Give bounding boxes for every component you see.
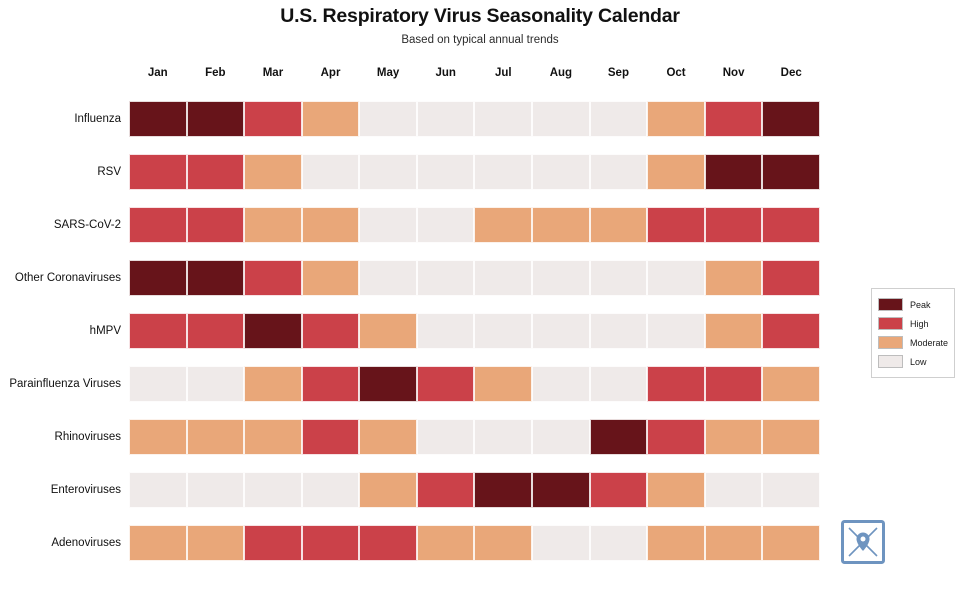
heatmap-cell[interactable] [590, 154, 648, 190]
heatmap-cell[interactable] [474, 313, 532, 349]
heatmap-cell[interactable] [129, 313, 187, 349]
heatmap-cell[interactable] [417, 525, 475, 561]
legend-item: High [878, 314, 949, 333]
heatmap-cell[interactable] [532, 313, 590, 349]
heatmap-cell[interactable] [532, 260, 590, 296]
heatmap-cell[interactable] [590, 260, 648, 296]
heatmap-cell[interactable] [302, 313, 360, 349]
heatmap-cell[interactable] [762, 313, 820, 349]
heatmap-cell[interactable] [359, 154, 417, 190]
page-title: U.S. Respiratory Virus Seasonality Calen… [0, 0, 960, 28]
heatmap-cell[interactable] [244, 472, 302, 508]
heatmap-cell[interactable] [417, 207, 475, 243]
heatmap-cell[interactable] [244, 366, 302, 402]
map-pin-icon[interactable] [838, 517, 888, 567]
heatmap-cell[interactable] [590, 525, 648, 561]
month-label-apr: Apr [302, 62, 360, 84]
title-block: U.S. Respiratory Virus Seasonality Calen… [0, 0, 960, 46]
heatmap-cell[interactable] [762, 207, 820, 243]
heatmap-cell[interactable] [647, 525, 705, 561]
heatmap-cell[interactable] [129, 101, 187, 137]
heatmap-cell[interactable] [590, 313, 648, 349]
heatmap-cell[interactable] [474, 154, 532, 190]
heatmap-cell[interactable] [474, 472, 532, 508]
row-label: Influenza [0, 101, 121, 137]
heatmap-cell[interactable] [129, 366, 187, 402]
heatmap-cell[interactable] [590, 101, 648, 137]
month-label-dec: Dec [762, 62, 820, 84]
heatmap-cell[interactable] [762, 472, 820, 508]
heatmap-cell[interactable] [244, 101, 302, 137]
heatmap-row [129, 207, 820, 243]
month-label-oct: Oct [647, 62, 705, 84]
heatmap-cell[interactable] [129, 154, 187, 190]
row-label: RSV [0, 154, 121, 190]
row-label: SARS-CoV-2 [0, 207, 121, 243]
row-label: Adenoviruses [0, 525, 121, 561]
heatmap-cell[interactable] [532, 366, 590, 402]
heatmap-cell[interactable] [302, 101, 360, 137]
heatmap-cell[interactable] [187, 366, 245, 402]
legend-item: Low [878, 352, 949, 371]
heatmap-cell[interactable] [417, 366, 475, 402]
heatmap-cell[interactable] [187, 260, 245, 296]
heatmap-cell[interactable] [417, 260, 475, 296]
heatmap-cell[interactable] [532, 207, 590, 243]
heatmap-cell[interactable] [762, 260, 820, 296]
month-label-jul: Jul [474, 62, 532, 84]
heatmap-cell[interactable] [532, 419, 590, 455]
month-label-jun: Jun [417, 62, 475, 84]
legend-label: Moderate [910, 338, 948, 348]
heatmap-cell[interactable] [762, 419, 820, 455]
heatmap-cell[interactable] [590, 419, 648, 455]
heatmap-cell[interactable] [244, 154, 302, 190]
heatmap-cell[interactable] [647, 154, 705, 190]
heatmap-cell[interactable] [129, 419, 187, 455]
row-label: Rhinoviruses [0, 419, 121, 455]
heatmap-row [129, 366, 820, 402]
heatmap-cell[interactable] [187, 154, 245, 190]
page-subtitle: Based on typical annual trends [0, 28, 960, 46]
heatmap-row [129, 419, 820, 455]
heatmap-row [129, 154, 820, 190]
legend-item: Moderate [878, 333, 949, 352]
heatmap-row [129, 313, 820, 349]
month-label-jan: Jan [129, 62, 187, 84]
heatmap-cell[interactable] [417, 419, 475, 455]
heatmap-cell[interactable] [129, 260, 187, 296]
heatmap-cell[interactable] [302, 366, 360, 402]
heatmap-cell[interactable] [647, 101, 705, 137]
heatmap-cell[interactable] [187, 101, 245, 137]
heatmap-cell[interactable] [762, 154, 820, 190]
heatmap-cell[interactable] [647, 419, 705, 455]
heatmap-cell[interactable] [302, 154, 360, 190]
heatmap-cell[interactable] [762, 366, 820, 402]
heatmap-cell[interactable] [359, 207, 417, 243]
legend-item: Peak [878, 295, 949, 314]
y-axis-labels: InfluenzaRSVSARS-CoV-2Other Coronaviruse… [0, 101, 121, 578]
heatmap-cell[interactable] [762, 525, 820, 561]
heatmap-cell[interactable] [359, 260, 417, 296]
row-label: Parainfluenza Viruses [0, 366, 121, 402]
legend: PeakHighModerateLow [871, 288, 955, 378]
month-label-may: May [359, 62, 417, 84]
heatmap-cell[interactable] [705, 366, 763, 402]
legend-swatch [878, 298, 903, 311]
heatmap-cell[interactable] [705, 313, 763, 349]
month-label-nov: Nov [705, 62, 763, 84]
heatmap-cell[interactable] [532, 101, 590, 137]
heatmap-cell[interactable] [302, 472, 360, 508]
heatmap-row [129, 101, 820, 137]
heatmap-cell[interactable] [417, 101, 475, 137]
row-label: hMPV [0, 313, 121, 349]
heatmap-cell[interactable] [129, 472, 187, 508]
heatmap-cell[interactable] [359, 101, 417, 137]
heatmap-cell[interactable] [302, 419, 360, 455]
heatmap-cell[interactable] [302, 260, 360, 296]
heatmap-cell[interactable] [359, 419, 417, 455]
month-label-feb: Feb [187, 62, 245, 84]
heatmap-cell[interactable] [705, 472, 763, 508]
heatmap-cell[interactable] [302, 525, 360, 561]
heatmap-cell[interactable] [302, 207, 360, 243]
legend-label: Low [910, 357, 927, 367]
heatmap-cell[interactable] [532, 472, 590, 508]
heatmap-plot: JanFebMarAprMayJunJulAugSepOctNovDec [129, 62, 820, 578]
heatmap-cell[interactable] [474, 419, 532, 455]
heatmap-row [129, 525, 820, 561]
month-label-sep: Sep [590, 62, 648, 84]
heatmap-cell[interactable] [647, 207, 705, 243]
heatmap-cell[interactable] [244, 313, 302, 349]
heatmap-cell[interactable] [244, 207, 302, 243]
heatmap-cell[interactable] [244, 525, 302, 561]
heatmap-cell[interactable] [417, 472, 475, 508]
heatmap-cell[interactable] [129, 207, 187, 243]
heatmap-grid [129, 101, 820, 561]
heatmap-cell[interactable] [647, 472, 705, 508]
legend-swatch [878, 355, 903, 368]
heatmap-cell[interactable] [187, 313, 245, 349]
heatmap-cell[interactable] [474, 207, 532, 243]
heatmap-cell[interactable] [590, 366, 648, 402]
heatmap-row [129, 260, 820, 296]
heatmap-cell[interactable] [187, 419, 245, 455]
heatmap-cell[interactable] [474, 260, 532, 296]
row-label: Other Coronaviruses [0, 260, 121, 296]
heatmap-cell[interactable] [532, 525, 590, 561]
heatmap-cell[interactable] [705, 154, 763, 190]
heatmap-cell[interactable] [705, 207, 763, 243]
x-axis-labels: JanFebMarAprMayJunJulAugSepOctNovDec [129, 62, 820, 84]
heatmap-cell[interactable] [647, 260, 705, 296]
heatmap-cell[interactable] [705, 260, 763, 296]
heatmap-cell[interactable] [244, 419, 302, 455]
heatmap-cell[interactable] [474, 366, 532, 402]
heatmap-cell[interactable] [590, 207, 648, 243]
month-label-aug: Aug [532, 62, 590, 84]
heatmap-cell[interactable] [129, 525, 187, 561]
heatmap-cell[interactable] [647, 366, 705, 402]
heatmap-cell[interactable] [359, 366, 417, 402]
heatmap-cell[interactable] [359, 313, 417, 349]
heatmap-cell[interactable] [705, 101, 763, 137]
heatmap-cell[interactable] [532, 154, 590, 190]
heatmap-cell[interactable] [417, 154, 475, 190]
heatmap-cell[interactable] [359, 525, 417, 561]
heatmap-cell[interactable] [359, 472, 417, 508]
heatmap-cell[interactable] [244, 260, 302, 296]
legend-swatch [878, 317, 903, 330]
heatmap-cell[interactable] [762, 101, 820, 137]
heatmap-cell[interactable] [590, 472, 648, 508]
heatmap-cell[interactable] [417, 313, 475, 349]
month-label-mar: Mar [244, 62, 302, 84]
heatmap-cell[interactable] [187, 207, 245, 243]
heatmap-cell[interactable] [474, 525, 532, 561]
heatmap-cell[interactable] [187, 472, 245, 508]
legend-swatch [878, 336, 903, 349]
heatmap-row [129, 472, 820, 508]
legend-label: High [910, 319, 929, 329]
heatmap-cell[interactable] [187, 525, 245, 561]
heatmap-cell[interactable] [474, 101, 532, 137]
heatmap-cell[interactable] [705, 525, 763, 561]
heatmap-cell[interactable] [647, 313, 705, 349]
legend-label: Peak [910, 300, 931, 310]
heatmap-cell[interactable] [705, 419, 763, 455]
row-label: Enteroviruses [0, 472, 121, 508]
